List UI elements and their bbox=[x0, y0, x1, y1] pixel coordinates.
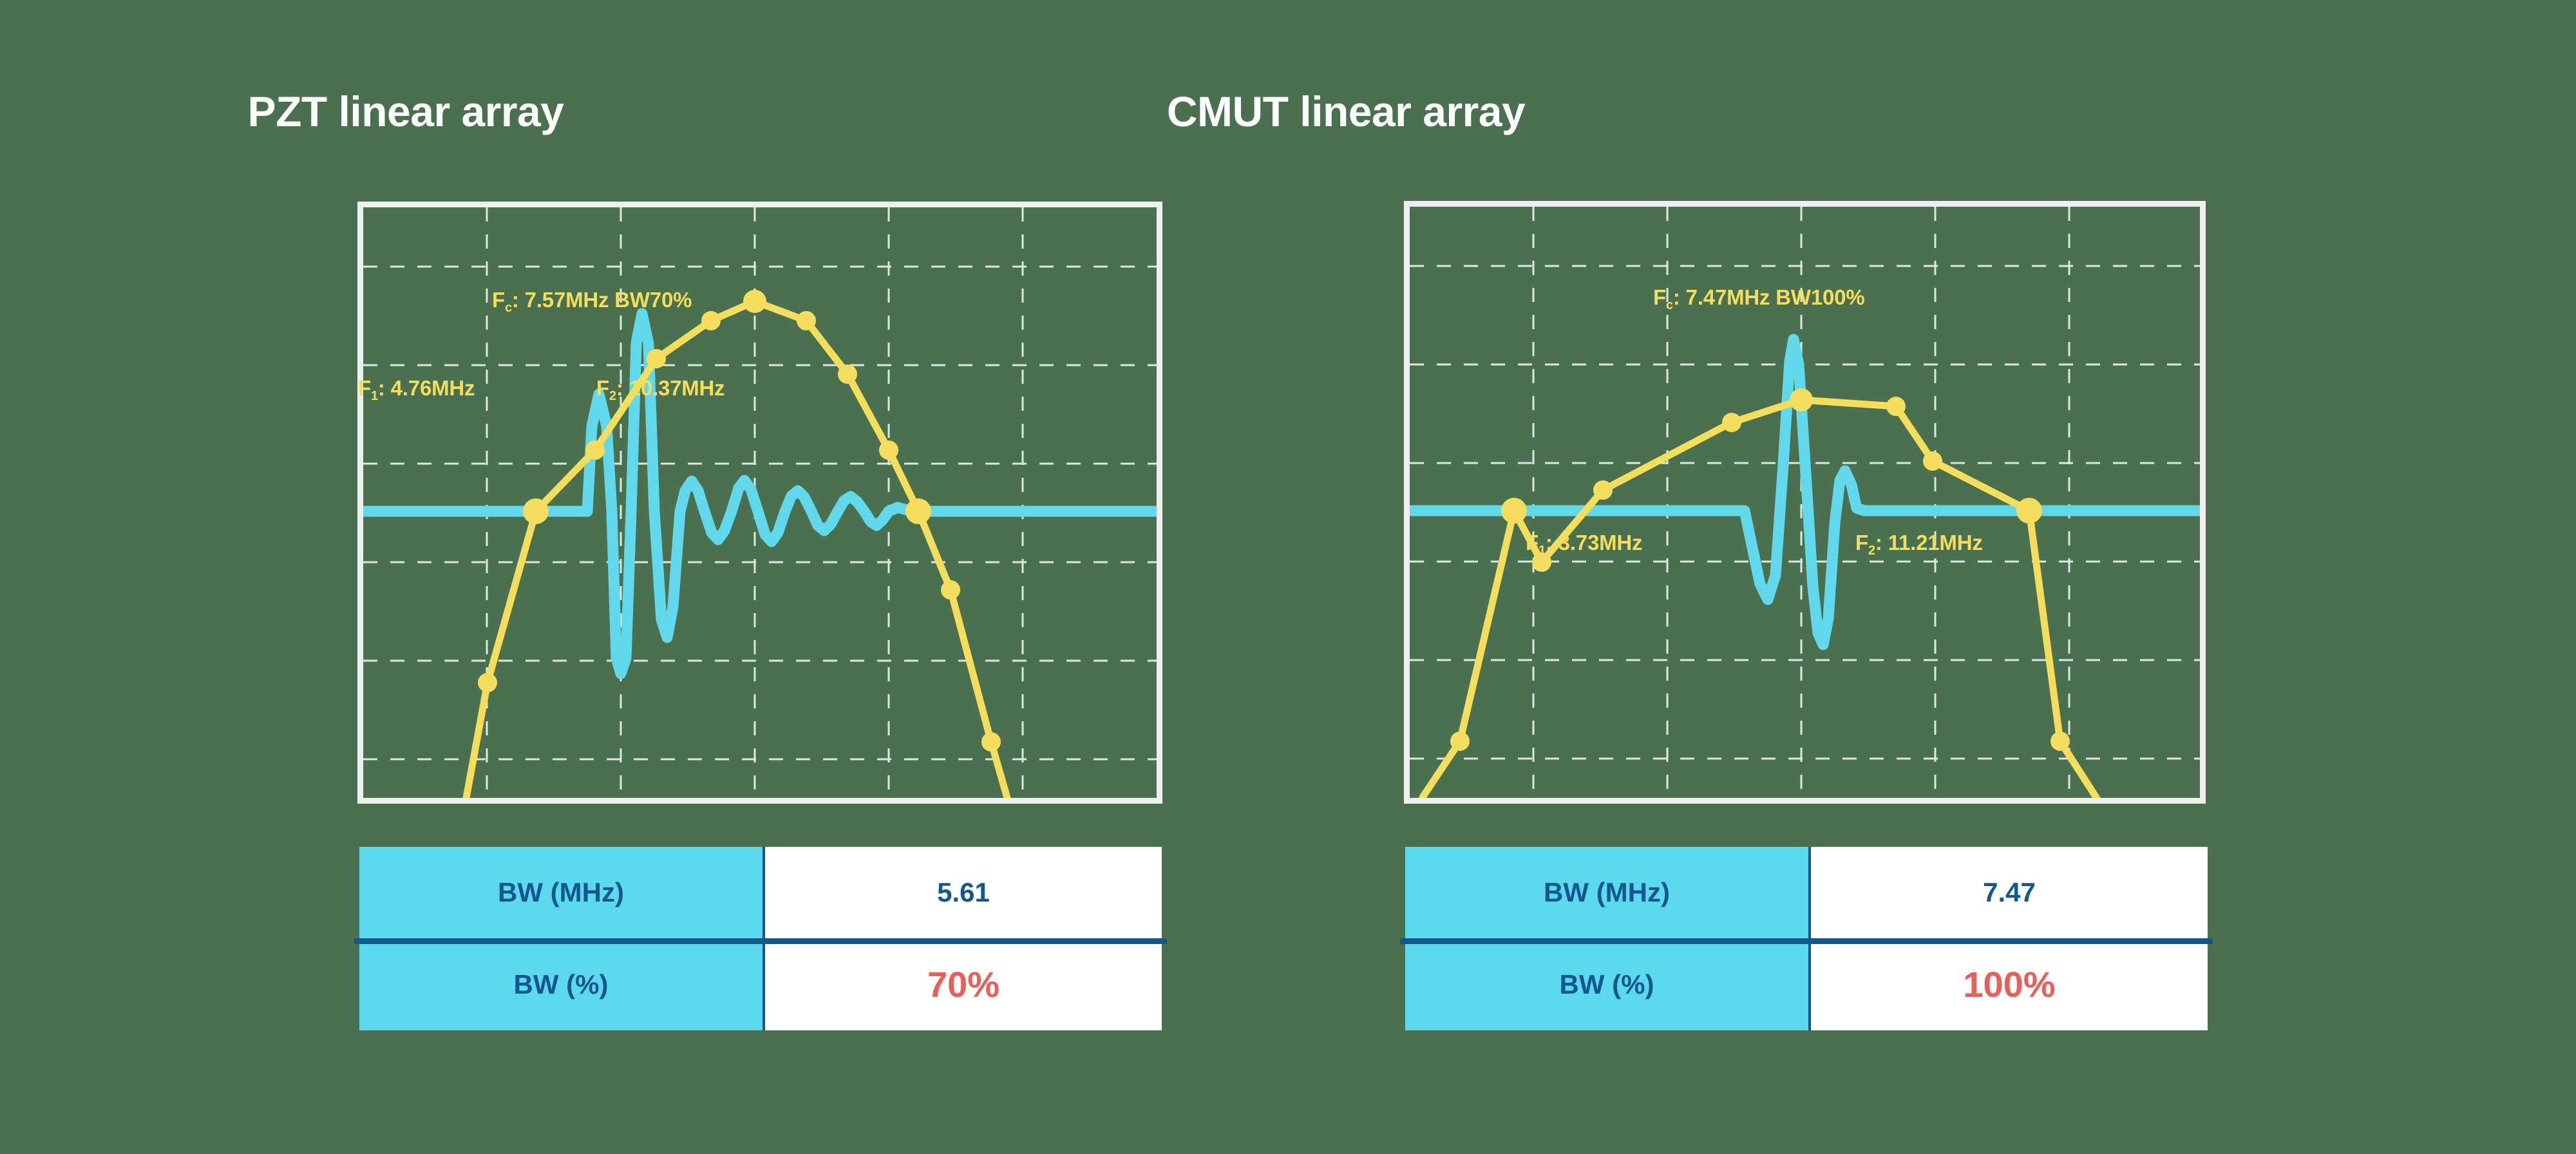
annotation-f1-prefix: F bbox=[1526, 531, 1539, 554]
bw-mhz-label-pzt: BW (MHz) bbox=[359, 847, 765, 939]
annotation-f2-text: : 11.21MHz bbox=[1875, 531, 1983, 554]
bw-mhz-value-cmut: 7.47 bbox=[1811, 847, 2208, 939]
annotation-f2-sub: 2 bbox=[1868, 544, 1875, 558]
impulse-waveform-cmut bbox=[1410, 339, 2200, 645]
annotation-center-prefix: F bbox=[1653, 285, 1666, 309]
annotation-f2-prefix: F bbox=[596, 376, 609, 400]
annotation-f2-prefix: F bbox=[1855, 531, 1868, 554]
bw-pct-value-cmut: 100% bbox=[1811, 939, 2208, 1031]
page-title-cmut: CMUT linear array bbox=[702, 90, 1990, 133]
bw-table-cmut: BW (MHz) 7.47 BW (%) 100% bbox=[1405, 847, 2208, 1030]
annotation-f2-cmut: F2: 11.21MHz bbox=[1855, 531, 1983, 555]
plot-svg-pzt bbox=[363, 207, 1157, 798]
annotation-f1-text: : 4.76MHz bbox=[378, 376, 475, 400]
bw-table-pzt: BW (MHz) 5.61 BW (%) 70% bbox=[359, 847, 1162, 1030]
annotation-center-freq-cmut: Fc: 7.47MHz BW100% bbox=[1653, 285, 1864, 310]
annotation-center-text: : 7.47MHz BW100% bbox=[1673, 285, 1865, 309]
bw-pct-label-cmut: BW (%) bbox=[1405, 939, 1811, 1031]
annotation-f2-pzt: F2: 10.37MHz bbox=[596, 376, 724, 401]
plot-area-pzt bbox=[363, 207, 1157, 798]
bw-pct-label-pzt: BW (%) bbox=[359, 939, 765, 1031]
annotation-f1-sub: 1 bbox=[371, 389, 378, 403]
annotation-center-sub: c bbox=[1666, 298, 1673, 312]
spectrum-markers-pzt bbox=[478, 290, 1001, 752]
annotation-f2-sub: 2 bbox=[609, 389, 616, 403]
annotation-f1-cmut: F1: 3.73MHz bbox=[1526, 531, 1642, 555]
annotation-f1-prefix: F bbox=[358, 376, 371, 400]
annotation-center-text: : 7.57MHz BW70% bbox=[512, 288, 692, 312]
chart-cmut: Fc: 7.47MHz BW100% F1: 3.73MHz F2: 11.21… bbox=[1404, 201, 2206, 804]
annotation-f1-pzt: F1: 4.76MHz bbox=[358, 376, 475, 401]
table-row-divider-pzt bbox=[354, 938, 1167, 944]
impulse-waveform-pzt bbox=[363, 314, 1157, 674]
annotation-f2-text: : 10.37MHz bbox=[616, 376, 725, 400]
annotation-f1-text: : 3.73MHz bbox=[1546, 531, 1642, 554]
chart-pzt: Fc: 7.57MHz BW70% F1: 4.76MHz F2: 10.37M… bbox=[357, 202, 1162, 804]
bw-mhz-value-pzt: 5.61 bbox=[765, 847, 1162, 939]
table-row-divider-cmut bbox=[1400, 938, 2213, 944]
bw-mhz-label-cmut: BW (MHz) bbox=[1405, 847, 1811, 939]
annotation-center-freq-pzt: Fc: 7.57MHz BW70% bbox=[492, 288, 692, 312]
bw-pct-value-pzt: 70% bbox=[765, 939, 1162, 1031]
panel-pzt: PZT linear array bbox=[0, 0, 1288, 1154]
annotation-center-prefix: F bbox=[492, 288, 505, 312]
annotation-f1-sub: 1 bbox=[1539, 544, 1546, 558]
annotation-center-sub: c bbox=[505, 301, 512, 315]
spectrum-curve-pzt bbox=[466, 301, 1007, 798]
panel-cmut: CMUT linear array bbox=[1288, 0, 2576, 1154]
